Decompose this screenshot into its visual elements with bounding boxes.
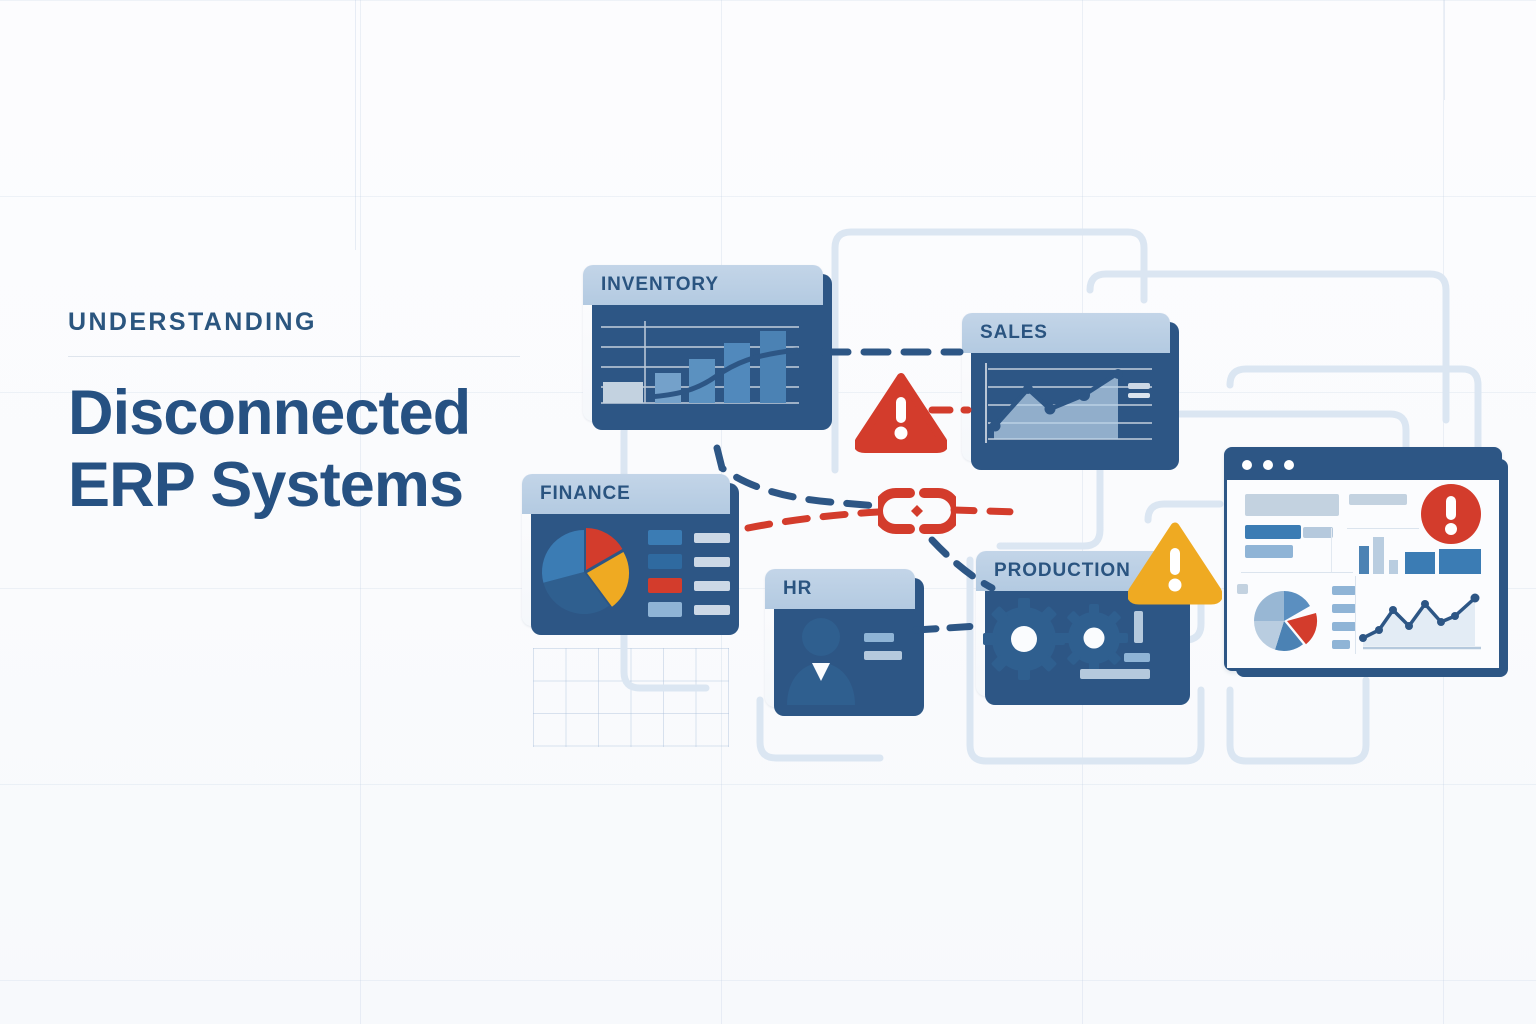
- finance-pie-chart: [528, 516, 640, 628]
- module-card-sales[interactable]: SALES: [962, 313, 1170, 461]
- sales-line-chart: [962, 353, 1170, 461]
- legend-row: [648, 554, 730, 569]
- list-item: [1332, 604, 1356, 613]
- legend-swatch: [648, 530, 682, 545]
- legend-bar: [694, 605, 730, 615]
- legend-bar: [694, 533, 730, 543]
- text-block: [1349, 494, 1407, 505]
- card-label-production: PRODUCTION: [994, 560, 1131, 582]
- alert-triangle-critical-icon[interactable]: [855, 371, 947, 453]
- headline-block: UNDERSTANDING Disconnected ERP Systems: [68, 310, 520, 522]
- divider: [1355, 576, 1356, 654]
- card-body-sales: [962, 353, 1170, 461]
- production-gears-icon: [976, 591, 1181, 696]
- text-block: [1237, 584, 1248, 594]
- central-dashboard-window[interactable]: [1224, 447, 1502, 671]
- card-label-inventory: INVENTORY: [601, 274, 719, 296]
- inventory-bar-chart: [583, 305, 823, 421]
- card-header-hr: HR: [765, 569, 915, 609]
- dashboard-line-chart: [1359, 580, 1485, 654]
- divider: [1347, 528, 1419, 529]
- text-block: [1303, 527, 1333, 538]
- card-label-finance: FINANCE: [540, 483, 631, 505]
- list-item: [1332, 622, 1356, 631]
- broken-link-icon[interactable]: [878, 485, 956, 537]
- alert-error-badge-icon[interactable]: [1419, 482, 1483, 546]
- card-body-production: [976, 591, 1181, 696]
- legend-swatch: [648, 602, 682, 617]
- window-title-bar: [1227, 450, 1499, 480]
- divider: [1241, 572, 1353, 573]
- card-body-hr: [765, 609, 915, 707]
- legend-row: [648, 530, 730, 545]
- page-title-line-1: Disconnected: [68, 378, 520, 450]
- legend-row: [648, 578, 730, 593]
- card-label-sales: SALES: [980, 322, 1048, 344]
- legend-row: [648, 602, 730, 617]
- text-block: [1245, 545, 1293, 558]
- headline-divider: [68, 356, 520, 357]
- page-title-line-2: ERP Systems: [68, 450, 520, 522]
- illustration-canvas: UNDERSTANDING Disconnected ERP Systems I…: [0, 0, 1536, 1024]
- text-block: [1245, 494, 1339, 516]
- legend-swatch: [648, 554, 682, 569]
- window-dot-2[interactable]: [1263, 460, 1273, 470]
- alert-triangle-warning-icon[interactable]: [1128, 521, 1222, 605]
- list-item: [1332, 586, 1356, 595]
- module-card-finance[interactable]: FINANCE: [522, 474, 730, 626]
- finance-legend: [648, 530, 730, 617]
- card-header-inventory: INVENTORY: [583, 265, 823, 305]
- legend-bar: [694, 581, 730, 591]
- legend-bar: [694, 557, 730, 567]
- card-label-hr: HR: [783, 578, 812, 600]
- card-header-sales: SALES: [962, 313, 1170, 353]
- list-item: [1332, 640, 1350, 649]
- kicker-text: UNDERSTANDING: [68, 310, 520, 335]
- dashboard-pie-chart: [1245, 580, 1323, 658]
- card-body-finance: [522, 514, 730, 626]
- divider: [1331, 528, 1332, 572]
- card-header-finance: FINANCE: [522, 474, 730, 514]
- card-body-inventory: [583, 305, 823, 421]
- text-block-highlight: [1245, 525, 1301, 539]
- module-card-hr[interactable]: HR: [765, 569, 915, 707]
- legend-swatch: [648, 578, 682, 593]
- module-card-inventory[interactable]: INVENTORY: [583, 265, 823, 421]
- hr-person-icon: [765, 609, 915, 707]
- window-dot-1[interactable]: [1242, 460, 1252, 470]
- window-dot-3[interactable]: [1284, 460, 1294, 470]
